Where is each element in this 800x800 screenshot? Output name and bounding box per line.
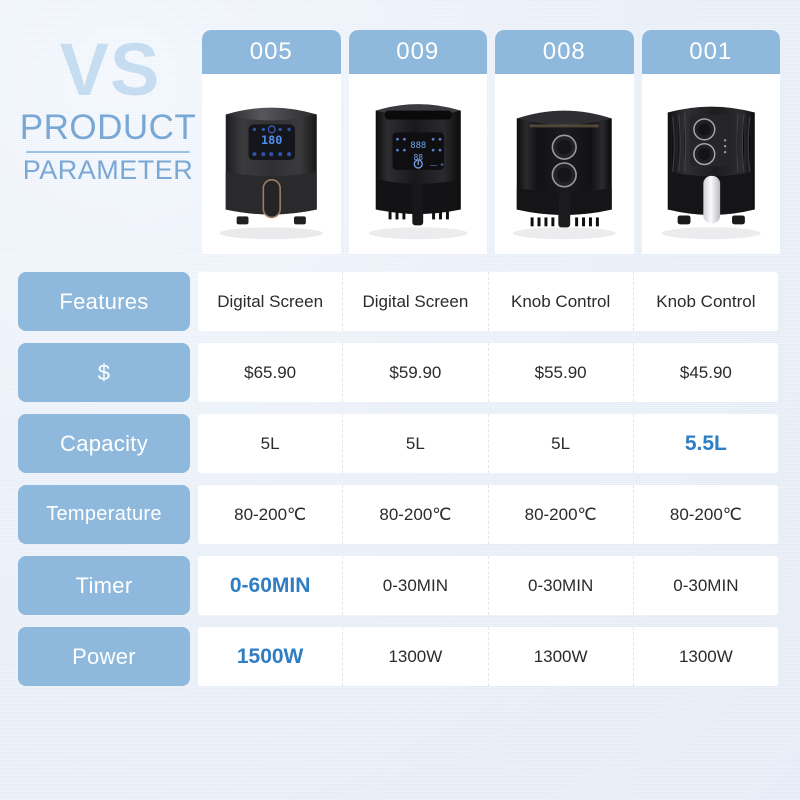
svg-text:—: — — [430, 162, 437, 169]
svg-text:+: + — [440, 162, 444, 169]
cell-timer-008: 0-30MIN — [489, 556, 634, 615]
title-block: VS PRODUCT PARAMETER — [18, 36, 198, 184]
row-label-price: $ — [18, 343, 190, 402]
cell-temperature-009: 80-200℃ — [343, 485, 488, 544]
cell-price-009: $59.90 — [343, 343, 488, 402]
cell-temperature-005: 80-200℃ — [198, 485, 343, 544]
product-image-008 — [495, 74, 634, 254]
cell-timer-001: 0-30MIN — [634, 556, 778, 615]
cell-power-008: 1300W — [489, 627, 634, 686]
product-image-009: 888 88 — + — [349, 74, 488, 254]
cell-features-008: Knob Control — [489, 272, 634, 331]
comparison-infographic: VS PRODUCT PARAMETER 005 — [0, 0, 800, 800]
product-card-001[interactable]: 001 — [642, 30, 781, 254]
table-row: Capacity 5L 5L 5L 5.5L — [18, 414, 778, 473]
svg-text:88: 88 — [413, 153, 423, 162]
cell-power-005: 1500W — [198, 627, 343, 686]
row-label-power: Power — [18, 627, 190, 686]
cell-capacity-009: 5L — [343, 414, 488, 473]
cell-capacity-005: 5L — [198, 414, 343, 473]
table-row: Features Digital Screen Digital Screen K… — [18, 272, 778, 331]
table-row: Power 1500W 1300W 1300W 1300W — [18, 627, 778, 686]
cell-timer-009: 0-30MIN — [343, 556, 488, 615]
svg-text:180: 180 — [261, 133, 282, 147]
cell-price-001: $45.90 — [634, 343, 778, 402]
title-product-word: PRODUCT — [18, 110, 198, 147]
row-values: 1500W 1300W 1300W 1300W — [198, 627, 778, 686]
svg-text:888: 888 — [410, 141, 426, 151]
cell-capacity-008: 5L — [489, 414, 634, 473]
air-fryer-009-illustration: 888 88 — + — [349, 84, 488, 244]
air-fryer-005-illustration: 180 — [202, 84, 341, 244]
row-label-capacity: Capacity — [18, 414, 190, 473]
table-row: Timer 0-60MIN 0-30MIN 0-30MIN 0-30MIN — [18, 556, 778, 615]
table-row: Temperature 80-200℃ 80-200℃ 80-200℃ 80-2… — [18, 485, 778, 544]
cell-features-005: Digital Screen — [198, 272, 343, 331]
row-label-features: Features — [18, 272, 190, 331]
product-card-005[interactable]: 005 — [202, 30, 341, 254]
cell-capacity-001: 5.5L — [634, 414, 778, 473]
cell-timer-005: 0-60MIN — [198, 556, 343, 615]
product-image-005: 180 — [202, 74, 341, 254]
product-model-label: 005 — [202, 30, 341, 74]
cell-price-008: $55.90 — [489, 343, 634, 402]
product-model-label: 001 — [642, 30, 781, 74]
row-values: Digital Screen Digital Screen Knob Contr… — [198, 272, 778, 331]
cell-price-005: $65.90 — [198, 343, 343, 402]
cell-temperature-001: 80-200℃ — [634, 485, 778, 544]
comparison-table: Features Digital Screen Digital Screen K… — [18, 272, 778, 686]
air-fryer-001-illustration — [642, 84, 781, 244]
product-model-label: 008 — [495, 30, 634, 74]
cell-power-001: 1300W — [634, 627, 778, 686]
product-card-list: 005 — [202, 30, 780, 254]
title-divider — [26, 151, 190, 153]
title-parameter-word: PARAMETER — [18, 156, 198, 184]
product-model-label: 009 — [349, 30, 488, 74]
row-values: 0-60MIN 0-30MIN 0-30MIN 0-30MIN — [198, 556, 778, 615]
row-label-temperature: Temperature — [18, 485, 190, 544]
product-card-009[interactable]: 009 — [349, 30, 488, 254]
table-row: $ $65.90 $59.90 $55.90 $45.90 — [18, 343, 778, 402]
row-values: 80-200℃ 80-200℃ 80-200℃ 80-200℃ — [198, 485, 778, 544]
product-image-001 — [642, 74, 781, 254]
air-fryer-008-illustration — [495, 84, 634, 244]
row-values: 5L 5L 5L 5.5L — [198, 414, 778, 473]
cell-power-009: 1300W — [343, 627, 488, 686]
cell-features-009: Digital Screen — [343, 272, 488, 331]
row-label-timer: Timer — [18, 556, 190, 615]
cell-temperature-008: 80-200℃ — [489, 485, 634, 544]
cell-features-001: Knob Control — [634, 272, 778, 331]
row-values: $65.90 $59.90 $55.90 $45.90 — [198, 343, 778, 402]
vs-watermark-text: VS — [22, 36, 198, 104]
product-card-008[interactable]: 008 — [495, 30, 634, 254]
